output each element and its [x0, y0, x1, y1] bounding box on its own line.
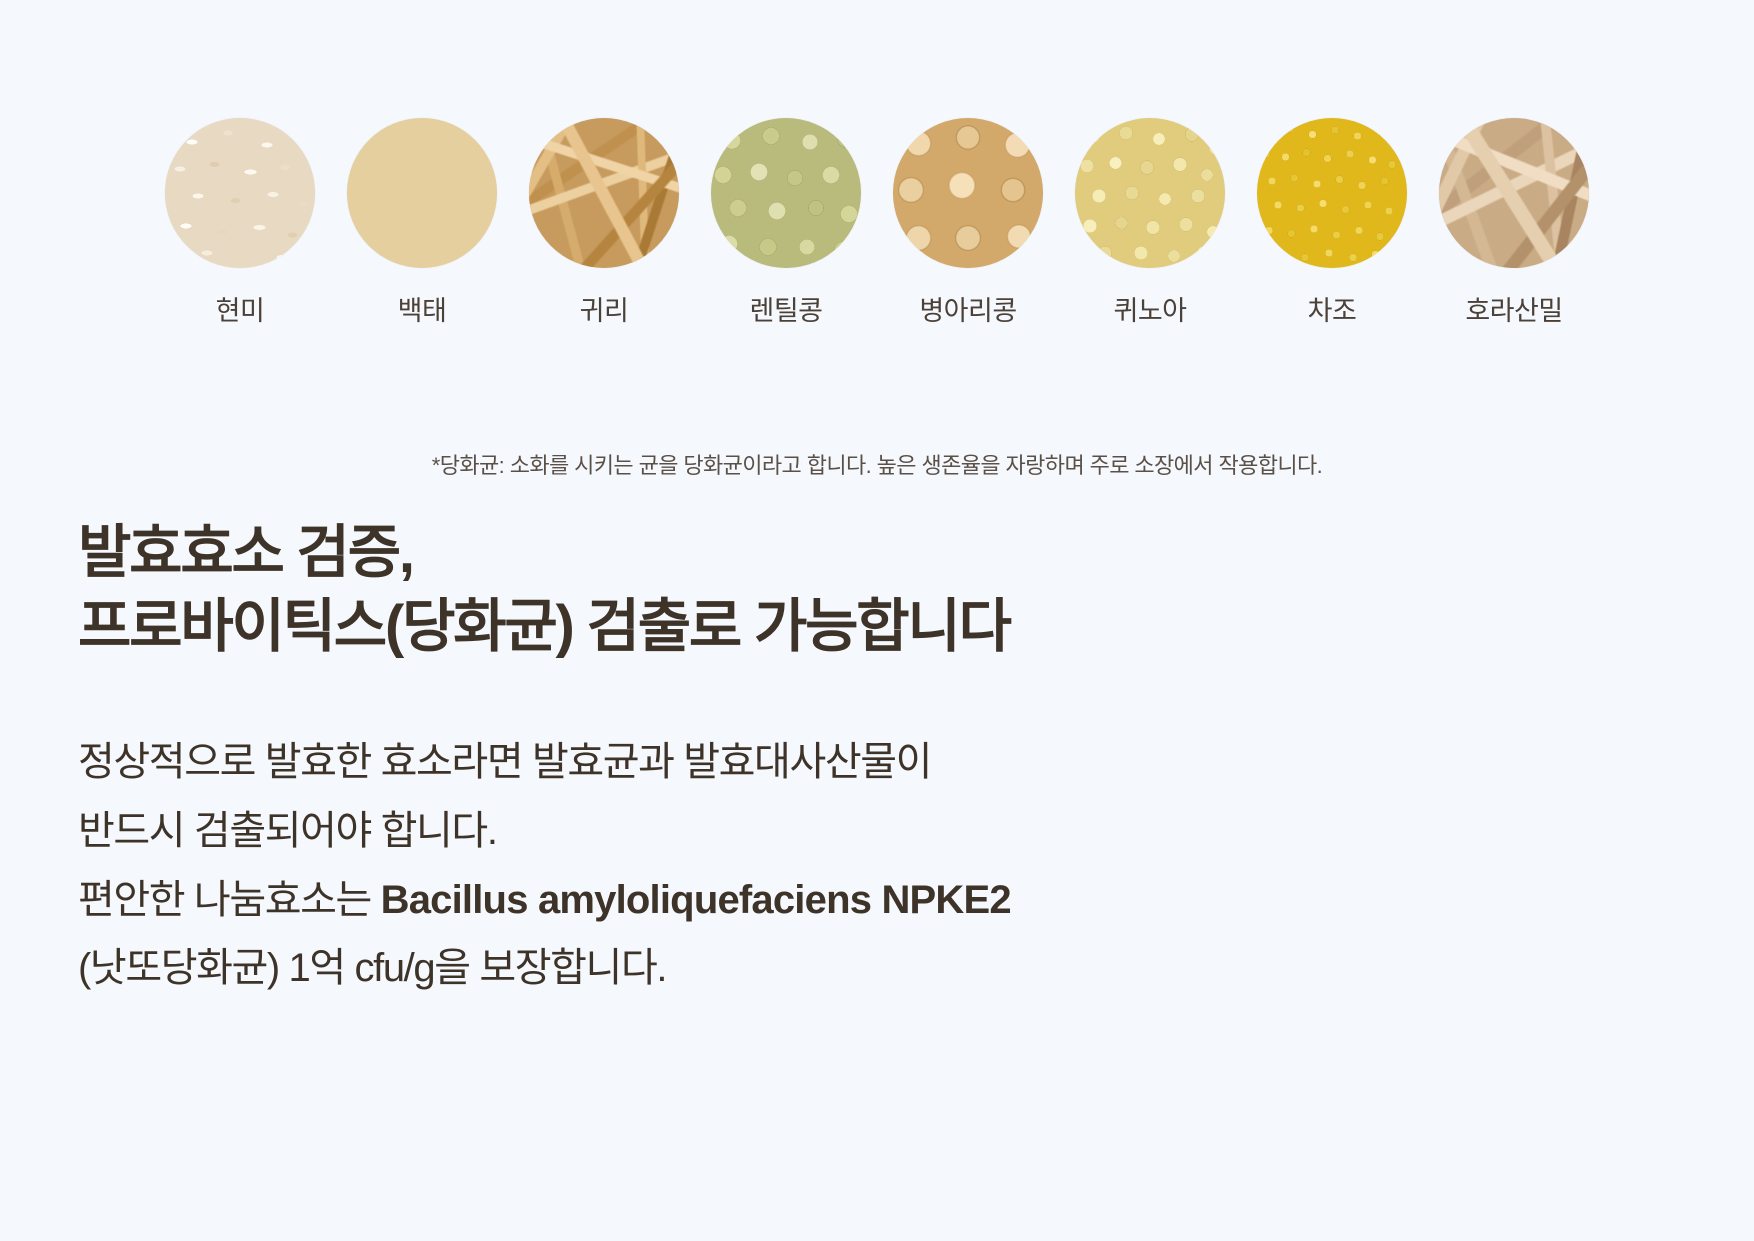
- grain-label-5: 퀴노아: [1113, 298, 1186, 325]
- grain-item-5: 퀴노아: [1075, 118, 1225, 325]
- grain-label-3: 렌틸콩: [749, 298, 822, 325]
- lentil-bean-icon: [711, 118, 861, 268]
- body-line-2: 반드시 검출되어야 합니다.: [78, 797, 1011, 866]
- white-soybean-icon: [347, 118, 497, 268]
- oat-icon: [529, 118, 679, 268]
- body-line-1: 정상적으로 발효한 효소라면 발효균과 발효대사산물이: [78, 728, 1011, 797]
- grain-item-3: 렌틸콩: [711, 118, 861, 325]
- khorasan-wheat-icon: [1439, 118, 1589, 268]
- page-title: 발효효소 검증, 프로바이틱스(당화균) 검출로 가능합니다: [78, 516, 1010, 664]
- body-copy: 정상적으로 발효한 효소라면 발효균과 발효대사산물이 반드시 검출되어야 합니…: [78, 728, 1011, 1003]
- headline-line-1: 발효효소 검증,: [78, 516, 1010, 590]
- body-line-4: (낫또당화균) 1억 cfu/g을 보장합니다.: [78, 934, 1011, 1003]
- grain-item-4: 병아리콩: [893, 118, 1043, 325]
- grain-item-6: 차조: [1257, 118, 1407, 325]
- quinoa-icon: [1075, 118, 1225, 268]
- grain-label-6: 차조: [1308, 298, 1357, 325]
- grain-item-1: 백태: [347, 118, 497, 325]
- grain-label-1: 백태: [398, 298, 447, 325]
- grain-label-7: 호라산밀: [1465, 298, 1562, 325]
- headline-line-2: 프로바이틱스(당화균) 검출로 가능합니다: [78, 590, 1010, 664]
- footnote-text: *당화균: 소화를 시키는 균을 당화균이라고 합니다. 높은 생존율을 자랑하…: [0, 452, 1754, 481]
- grain-label-4: 병아리콩: [919, 298, 1016, 325]
- grain-label-2: 귀리: [580, 298, 629, 325]
- brown-rice-icon: [165, 118, 315, 268]
- grain-item-2: 귀리: [529, 118, 679, 325]
- foxtail-millet-icon: [1257, 118, 1407, 268]
- strain-name: Bacillus amyloliquefaciens NPKE2: [381, 878, 1011, 922]
- chickpea-icon: [893, 118, 1043, 268]
- grain-label-0: 현미: [216, 298, 265, 325]
- body-line-3-prefix: 편안한 나눔효소는: [78, 878, 381, 922]
- body-line-3: 편안한 나눔효소는 Bacillus amyloliquefaciens NPK…: [78, 866, 1011, 935]
- grain-item-0: 현미: [165, 118, 315, 325]
- grain-gallery: 현미 백태 귀리 렌틸콩 병아리콩 퀴노아 차조: [0, 118, 1754, 325]
- grain-item-7: 호라산밀: [1439, 118, 1589, 325]
